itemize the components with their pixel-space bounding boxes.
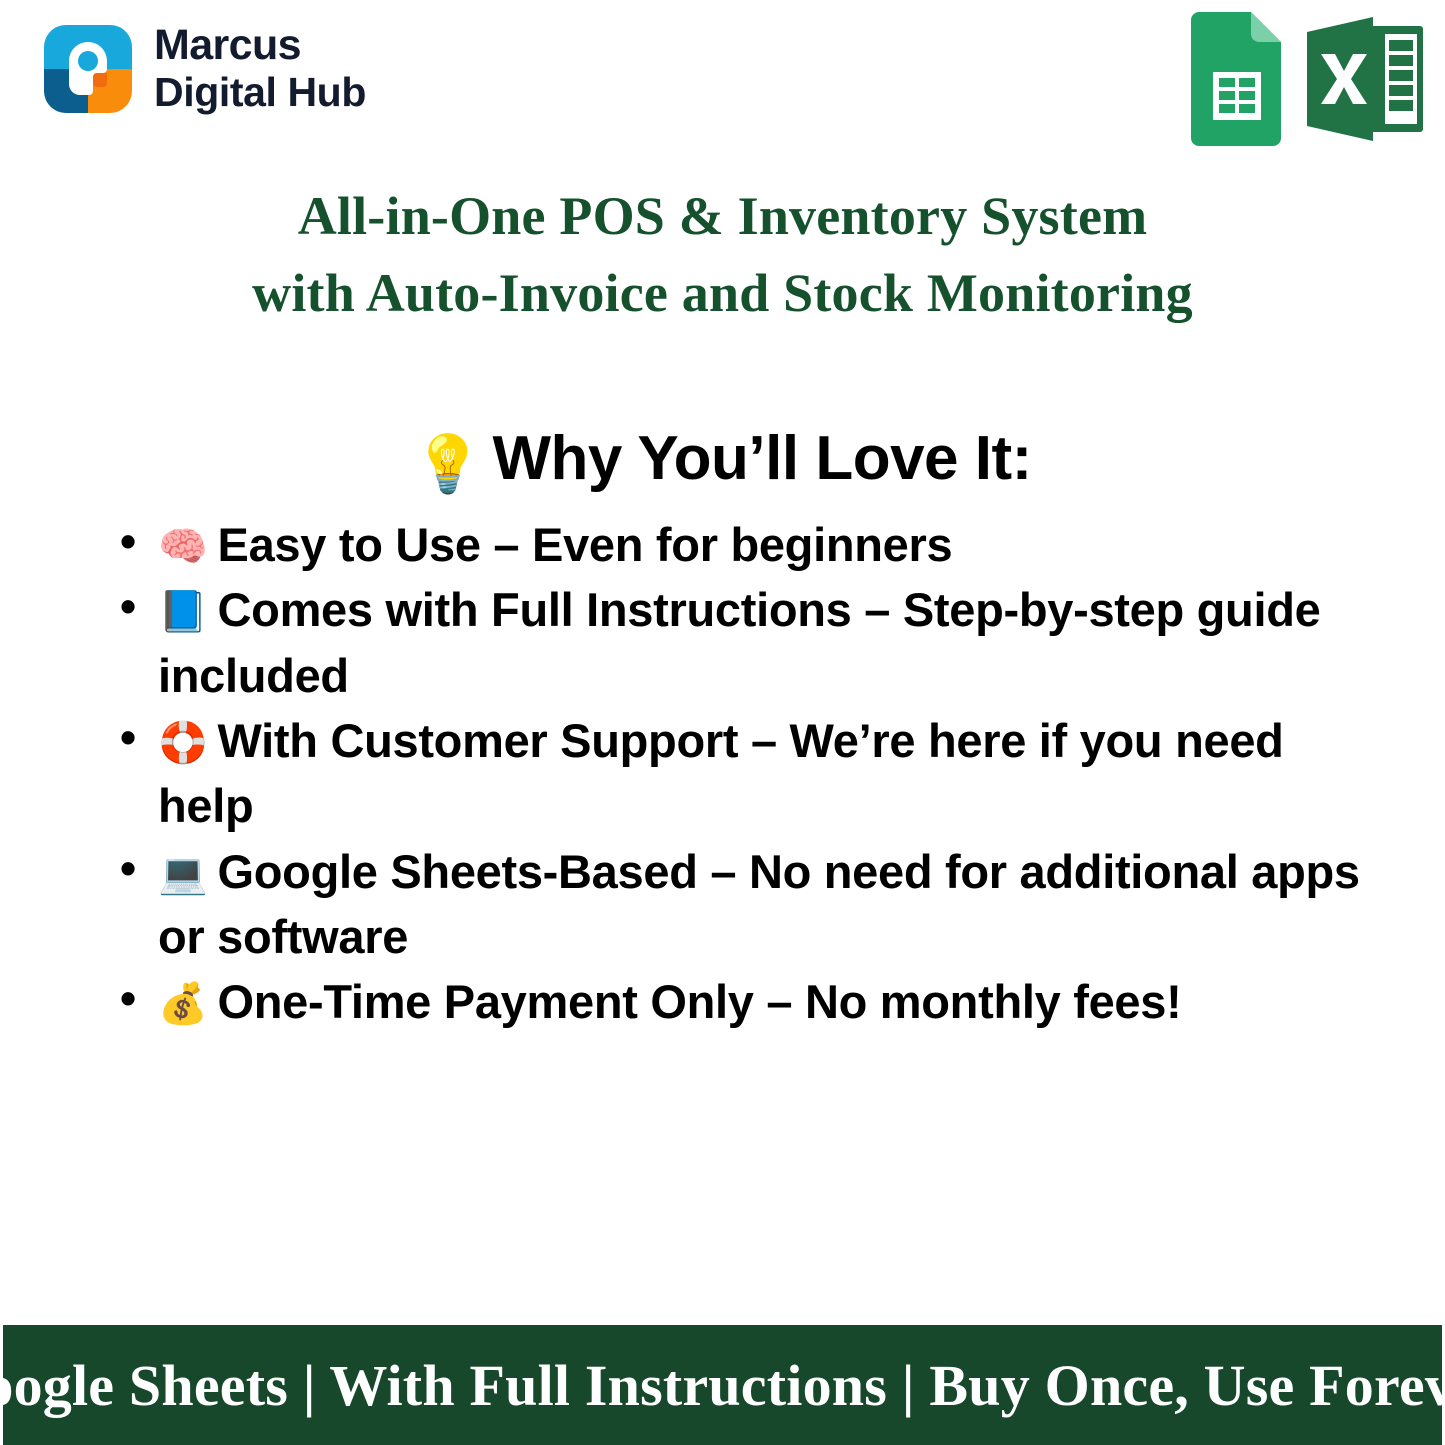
ring-buoy-emoji: 🛟 — [158, 721, 208, 765]
benefits-heading: 💡Why You’ll Love It: — [0, 423, 1445, 497]
blue-book-emoji: 📘 — [158, 590, 208, 634]
list-item-text: With Customer Support – We’re here if yo… — [158, 714, 1284, 832]
brand-name-line-1: Marcus — [154, 24, 366, 68]
light-bulb-emoji: 💡 — [413, 432, 482, 495]
list-item: 🛟With Customer Support – We’re here if y… — [112, 708, 1375, 839]
page-title-line-2: with Auto-Invoice and Stock Monitoring — [0, 255, 1445, 332]
brain-emoji: 🧠 — [158, 525, 208, 569]
marcus-logo-icon — [44, 25, 132, 113]
app-compatibility-icons — [1189, 12, 1427, 146]
list-item: 💻Google Sheets-Based – No need for addit… — [112, 839, 1375, 970]
page-title-line-1: All-in-One POS & Inventory System — [0, 178, 1445, 255]
brand-lockup: Marcus Digital Hub — [44, 24, 366, 114]
logo-q-glyph — [44, 25, 132, 113]
list-item: 📘Comes with Full Instructions – Step-by-… — [112, 577, 1375, 708]
laptop-emoji: 💻 — [158, 852, 208, 896]
page-title: All-in-One POS & Inventory System with A… — [0, 178, 1445, 332]
footer-banner: Google Sheets | With Full Instructions |… — [3, 1325, 1442, 1445]
brand-name-line-2: Digital Hub — [154, 72, 366, 114]
brand-wordmark: Marcus Digital Hub — [154, 24, 366, 114]
list-item-text: Google Sheets-Based – No need for additi… — [158, 845, 1360, 963]
google-sheets-icon — [1189, 12, 1289, 146]
list-item: 💰One-Time Payment Only – No monthly fees… — [112, 969, 1375, 1034]
product-listing-graphic: Marcus Digital Hub — [0, 0, 1445, 1445]
list-item-text: Comes with Full Instructions – Step-by-s… — [158, 583, 1320, 701]
money-bag-emoji: 💰 — [158, 982, 208, 1026]
footer-banner-text: Google Sheets | With Full Instructions |… — [0, 1352, 1445, 1419]
benefits-heading-text: Why You’ll Love It: — [492, 424, 1031, 493]
microsoft-excel-icon — [1299, 12, 1427, 146]
list-item-text: One-Time Payment Only – No monthly fees! — [218, 975, 1182, 1028]
list-item: 🧠Easy to Use – Even for beginners — [112, 512, 1375, 577]
list-item-text: Easy to Use – Even for beginners — [218, 518, 953, 571]
benefits-list: 🧠Easy to Use – Even for beginners 📘Comes… — [112, 512, 1375, 1035]
